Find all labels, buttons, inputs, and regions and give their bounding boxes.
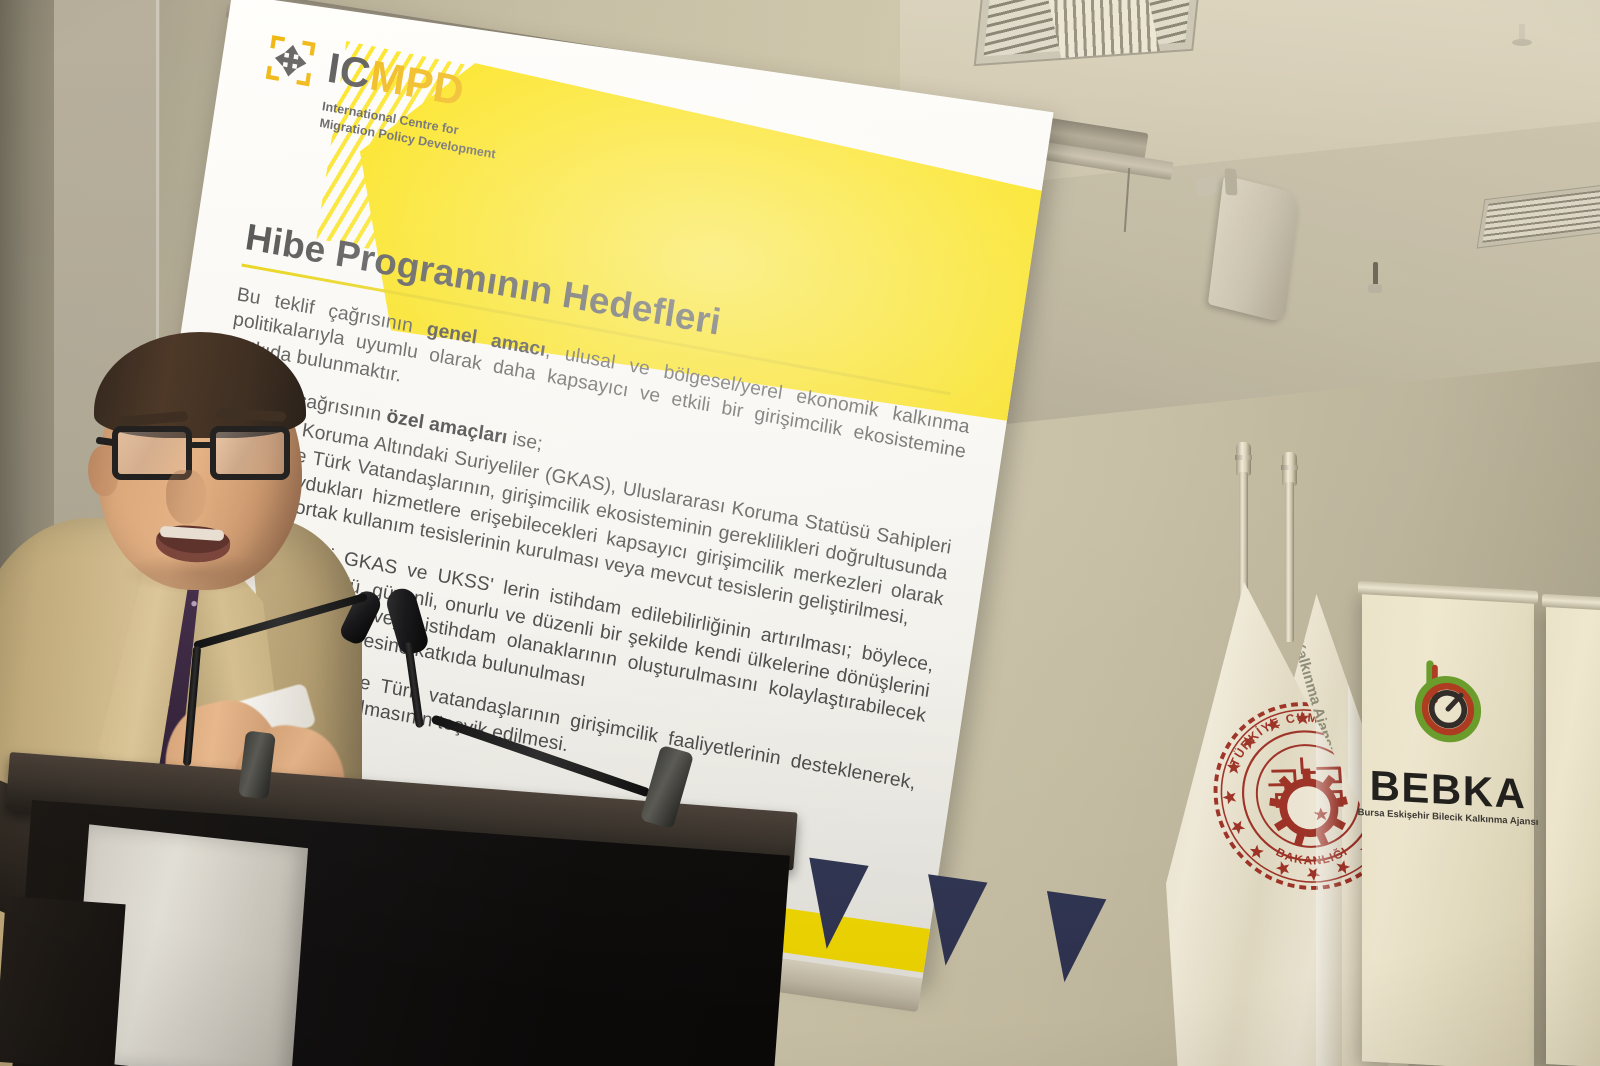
lectern-left-edge (0, 896, 126, 1066)
bebka-banner-secondary (1546, 606, 1600, 1066)
lens-right (210, 426, 290, 480)
microphone-left (168, 624, 448, 824)
pennant-flag (797, 858, 869, 953)
pennant-flag (916, 874, 988, 969)
glasses-temple (96, 437, 117, 447)
microphone-base-unit (238, 730, 276, 799)
icmpd-word-mpd: MPD (367, 51, 467, 114)
icmpd-word-ic: IC (325, 44, 374, 98)
banner-top-rail (1542, 594, 1600, 611)
chin-shadow (120, 552, 280, 594)
wall-mounted-loudspeaker-icon (1208, 175, 1300, 323)
presentation-photo-scene: ICMPD International Centre for Migration… (0, 0, 1600, 1066)
pennant-flag (1035, 891, 1107, 986)
svg-text:TÜRKİYE CUMHURİYETİ: TÜRKİYE CUMHURİYETİ (1224, 709, 1385, 769)
bebka-banner-primary: BEBKA Bursa Eskişehir Bilecik Kalkınma A… (1362, 593, 1534, 1066)
emblem-outer-text: TÜRKİYE CUMHURİYETİ (1224, 709, 1385, 769)
microphone-gooseneck (431, 714, 651, 797)
bebka-spiral-b-logo-icon (1399, 649, 1497, 752)
flag-finial (1236, 442, 1251, 476)
turkiye-ministry-flag: TÜRKİYE CUMHURİYETİ BAKANLIĞI (1166, 442, 1366, 1042)
ceiling-drop-fixture-icon (1368, 262, 1382, 296)
nose (166, 470, 206, 524)
glasses-bridge (190, 442, 214, 448)
text-run: ise; (506, 427, 544, 454)
icmpd-arrows-mark-icon (261, 30, 320, 91)
eyeglasses-icon (110, 426, 306, 488)
fire-sprinkler-head-icon (1512, 24, 1532, 50)
microphone-gooseneck (183, 646, 201, 766)
